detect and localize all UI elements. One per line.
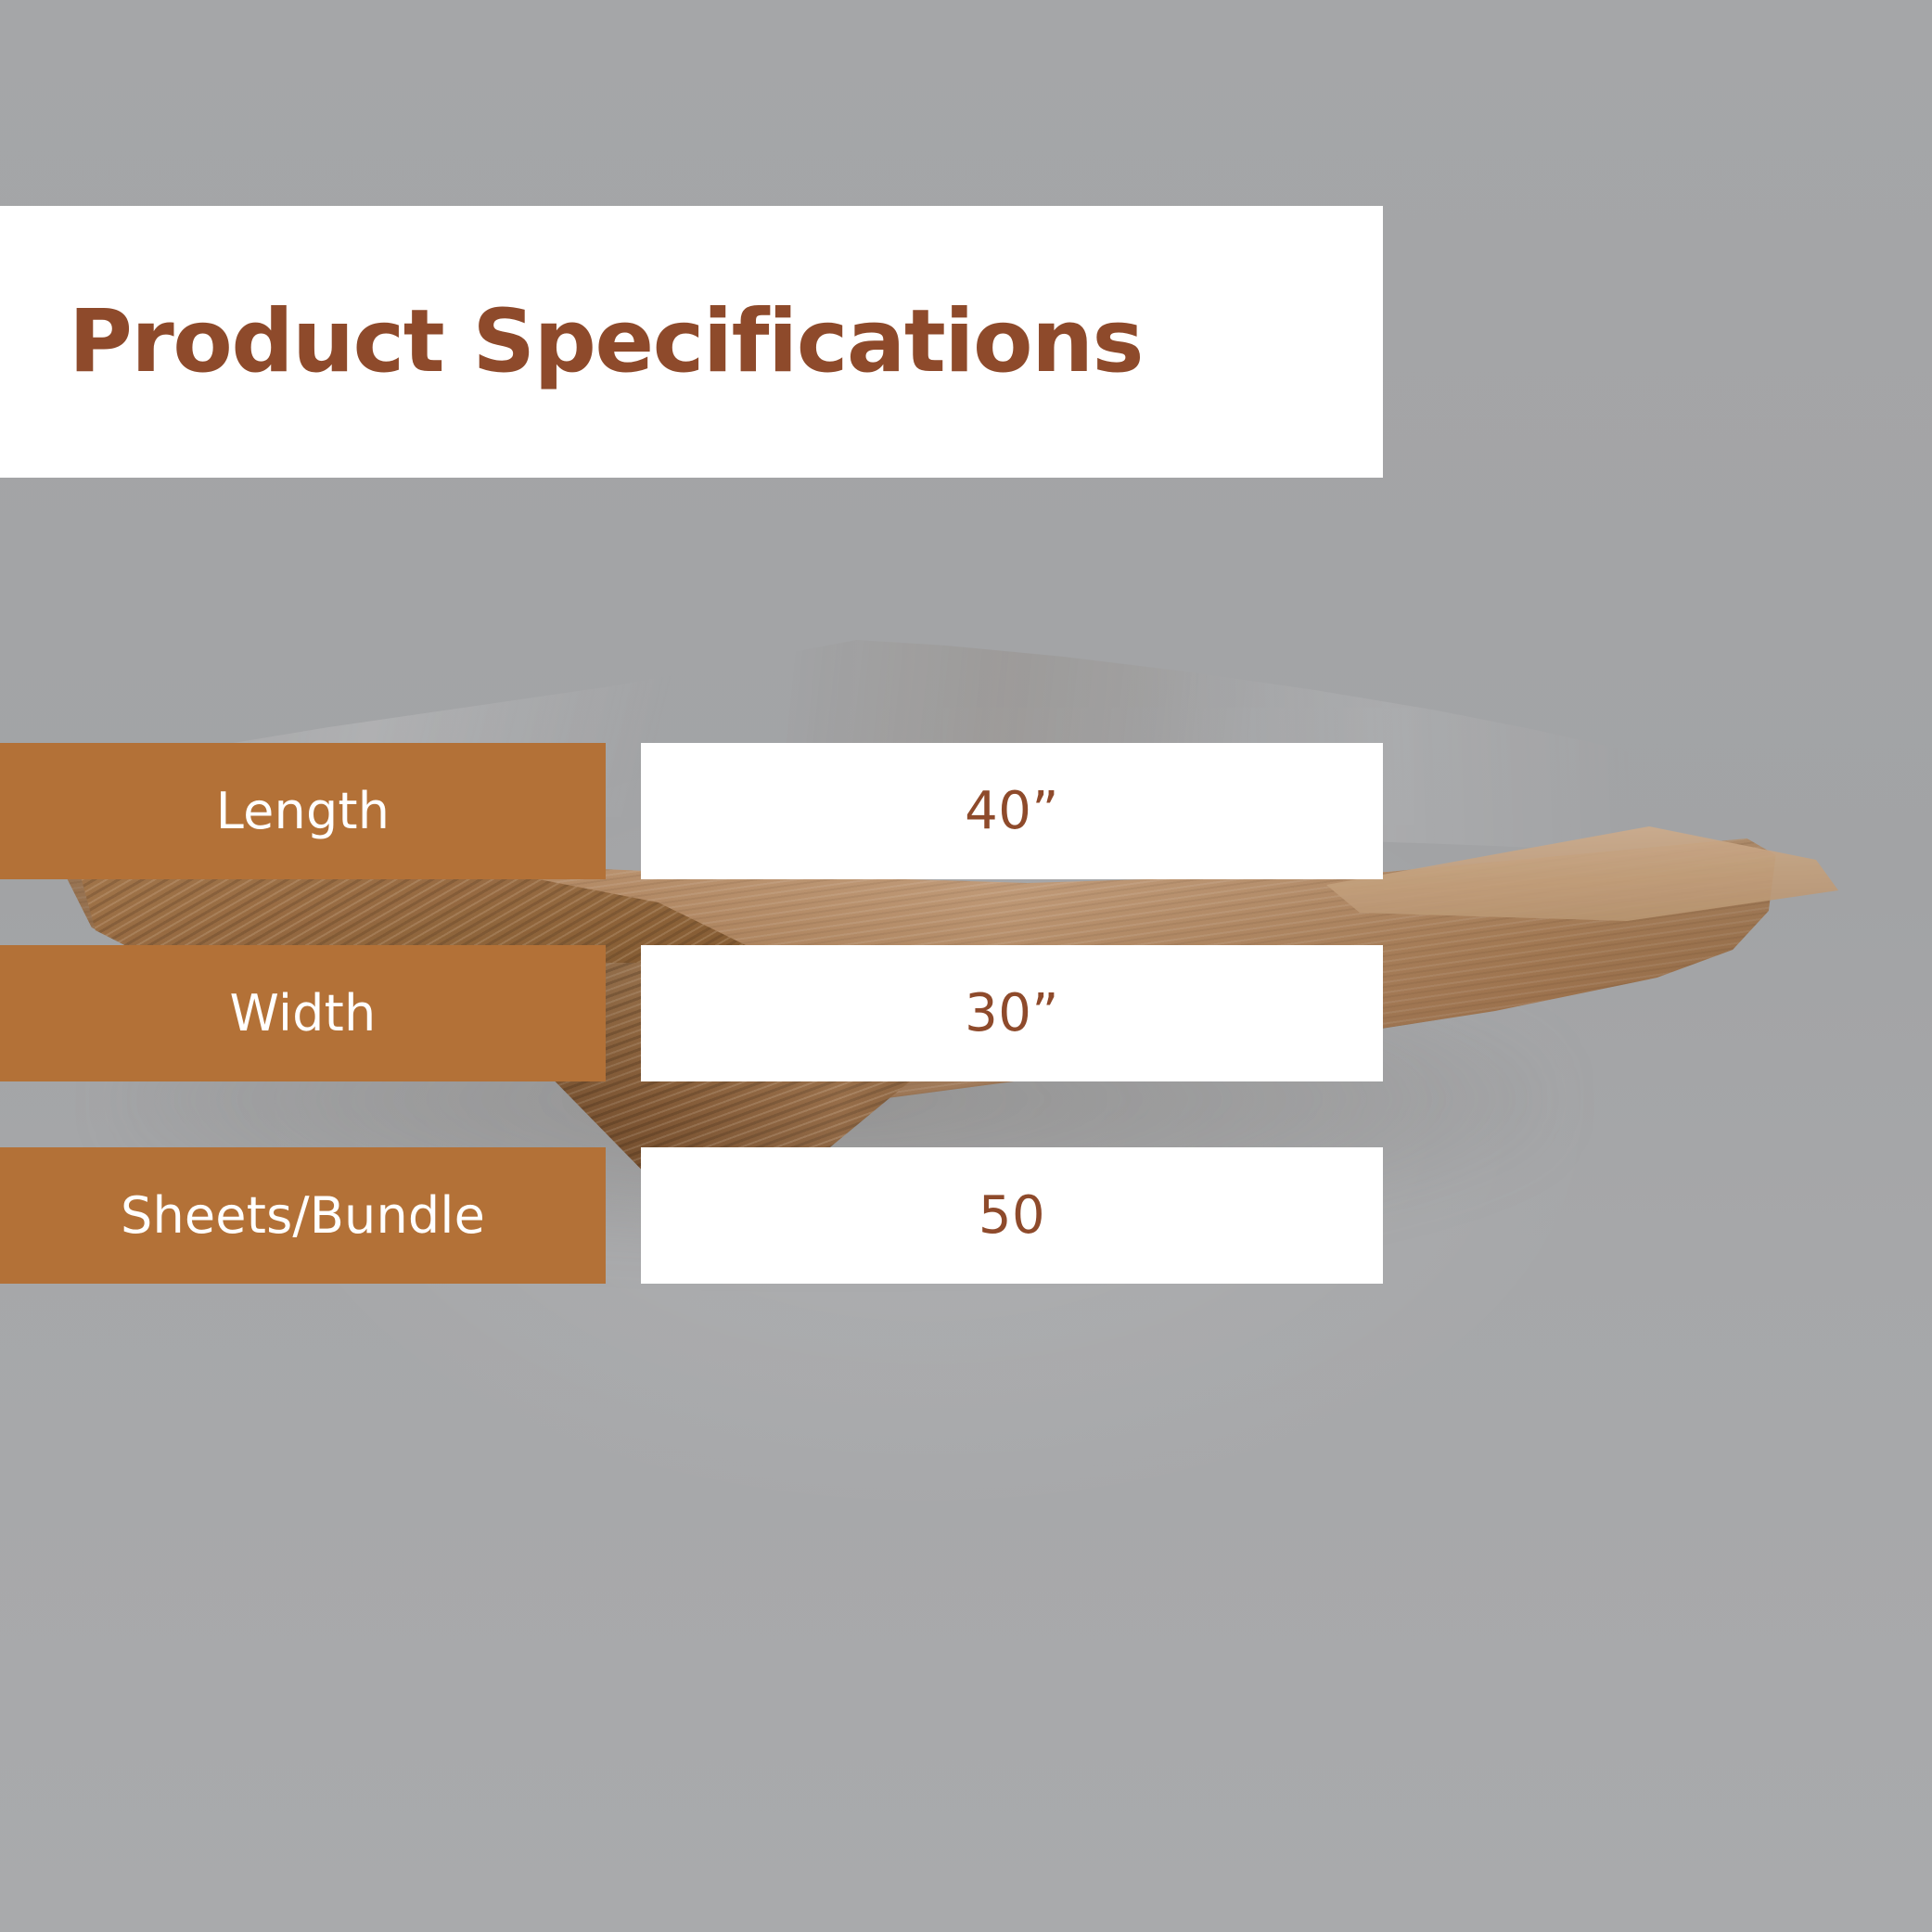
spec-label-text: Length <box>216 787 390 837</box>
spec-value-box-width: 30” <box>641 945 1383 1081</box>
spec-value-box-length: 40” <box>641 743 1383 879</box>
spec-row: Width 30” <box>0 945 1383 1081</box>
page-title: Product Specifications <box>69 299 1143 386</box>
spec-row: Length 40” <box>0 743 1383 879</box>
product-spec-canvas: Product Specifications Length 40” Width … <box>0 0 1932 1932</box>
spec-value-text: 30” <box>965 988 1059 1040</box>
spec-row: Sheets/Bundle 50 <box>0 1147 1383 1284</box>
spec-label-box-sheets-per-bundle: Sheets/Bundle <box>0 1147 606 1284</box>
spec-label-box-width: Width <box>0 945 606 1081</box>
spec-value-text: 50 <box>979 1190 1045 1242</box>
title-card: Product Specifications <box>0 206 1383 478</box>
spec-value-box-sheets-per-bundle: 50 <box>641 1147 1383 1284</box>
spec-label-text: Width <box>230 989 377 1039</box>
spec-label-text: Sheets/Bundle <box>121 1191 485 1241</box>
spec-label-box-length: Length <box>0 743 606 879</box>
spec-value-text: 40” <box>965 786 1059 838</box>
